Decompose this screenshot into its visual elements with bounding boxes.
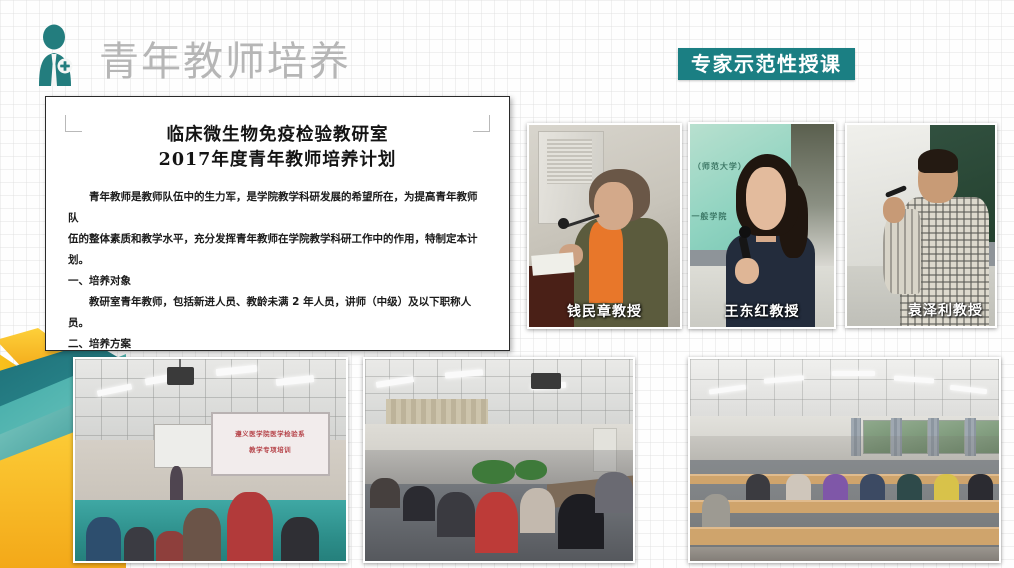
doctor-person-medical-icon (29, 24, 85, 88)
section-badge: 专家示范性授课 (678, 48, 855, 80)
document-paragraph: 教研室青年教师，包括新进人员、教龄未满 2 年人员，讲师（中级）及以下职称人员。 (68, 292, 487, 334)
photo-scene (690, 359, 999, 561)
document-heading: 临床微生物免疫检验教研室 2017年度青年教师培养计划 (46, 123, 509, 173)
document-paragraph: 伍的整体素质和教学水平，充分发挥青年教师在学院教学科研工作中的作用，特制定本计划… (68, 229, 487, 271)
photo-scene: 遵义医学院医学检验系 教学专项培训 (75, 359, 346, 561)
crop-mark-top-right (473, 115, 490, 132)
page-title: 青年教师培养 (99, 37, 351, 87)
photo-scene (365, 359, 633, 561)
photo-caption: 王东红教授 (690, 301, 834, 321)
photo-scene: （师范大学） 一般学院 (690, 124, 834, 327)
document-heading-line-1: 临床微生物免疫检验教研室 (46, 123, 509, 148)
photo-large-classroom (688, 357, 1001, 563)
projection-text-line-1: 遵义医学院医学检验系 (211, 428, 330, 438)
training-plan-document: 临床微生物免疫检验教研室 2017年度青年教师培养计划 青年教师是教师队伍中的生… (45, 96, 510, 351)
document-paragraph: 青年教师是教师队伍中的生力军，是学院教学科研发展的希望所在，为提高青年教师队 (68, 187, 487, 229)
photo-caption: 钱民章教授 (529, 301, 680, 321)
photo-conference-room-audience (363, 357, 635, 563)
document-heading-line-2: 2017年度青年教师培养计划 (46, 148, 509, 173)
photo-professor-yuan: 袁泽利教授 (845, 123, 997, 328)
document-paragraph: 二、培养方案 (68, 334, 487, 351)
document-body: 青年教师是教师队伍中的生力军，是学院教学科研发展的希望所在，为提高青年教师队 伍… (68, 187, 487, 351)
document-paragraph: 一、培养对象 (68, 271, 487, 292)
photo-scene (847, 125, 995, 326)
photo-professor-wang: （师范大学） 一般学院 王东红教授 (688, 122, 836, 329)
projection-text-line-2: 教学专项培训 (211, 444, 330, 454)
photo-caption: 袁泽利教授 (847, 300, 995, 320)
photo-lecture-room-with-screen: 遵义医学院医学检验系 教学专项培训 (73, 357, 348, 563)
photo-professor-qian: 钱民章教授 (527, 123, 682, 329)
slide-canvas: 青年教师培养 专家示范性授课 临床微生物免疫检验教研室 2017年度青年教师培养… (0, 0, 1014, 568)
photo-scene (529, 125, 680, 327)
crop-mark-top-left (65, 115, 82, 132)
